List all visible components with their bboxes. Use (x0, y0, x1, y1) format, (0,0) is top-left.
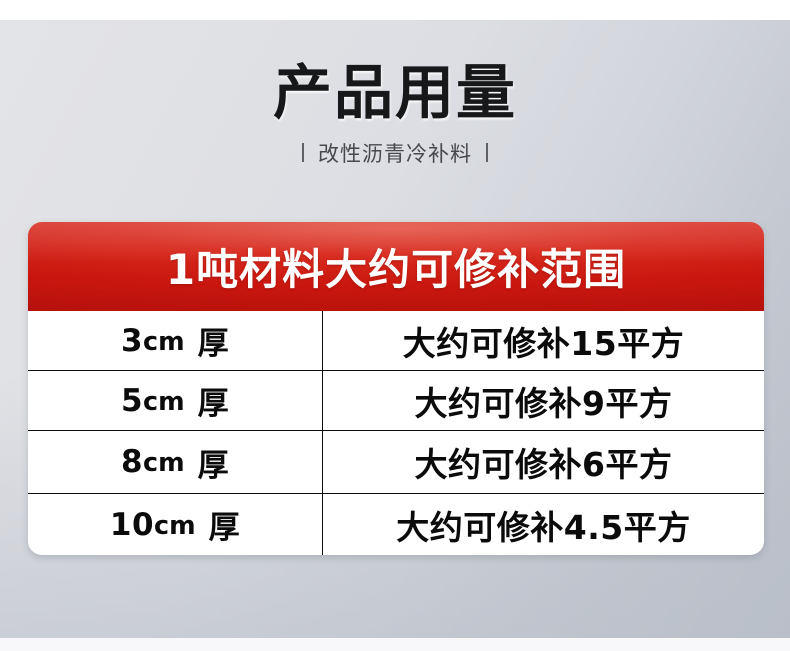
coverage-table-banner: 1吨材料大约可修补范围 (28, 222, 764, 311)
table-row: 8cm厚 大约可修补6平方 (28, 430, 764, 493)
subtitle-row: 改性沥青冷补料 (0, 138, 790, 168)
table-row: 3cm厚 大约可修补15平方 (28, 311, 764, 370)
product-usage-infographic: 产品用量 改性沥青冷补料 1吨材料大约可修补范围 3cm厚 大约可修补15平方 … (0, 0, 790, 651)
thickness-value: 3 (121, 323, 143, 359)
thickness-word: 厚 (198, 440, 230, 485)
thickness-value: 10 (110, 507, 154, 543)
table-cell-thickness: 8cm厚 (28, 431, 323, 493)
coverage-table-body: 3cm厚 大约可修补15平方 5cm厚 大约可修补9平方 8cm厚 大约可修补6… (28, 311, 764, 555)
table-row: 5cm厚 大约可修补9平方 (28, 370, 764, 430)
thickness-word: 厚 (209, 502, 241, 547)
heading-block: 产品用量 改性沥青冷补料 (0, 62, 790, 168)
thickness-value: 8 (121, 444, 143, 480)
thickness-unit: cm (143, 326, 185, 356)
table-cell-thickness: 10cm厚 (28, 494, 323, 555)
thickness-unit: cm (143, 386, 185, 416)
thickness-value: 5 (121, 383, 143, 419)
vertical-bar-right-icon (486, 143, 488, 162)
bottom-white-band (0, 638, 790, 651)
thickness-unit: cm (154, 510, 196, 540)
thickness-unit: cm (143, 447, 185, 477)
vertical-bar-left-icon (302, 143, 304, 162)
thickness-word: 厚 (198, 318, 230, 363)
coverage-table-card: 1吨材料大约可修补范围 3cm厚 大约可修补15平方 5cm厚 大约可修补9平方… (28, 222, 764, 555)
coverage-table-banner-title: 1吨材料大约可修补范围 (166, 236, 626, 297)
page-subtitle: 改性沥青冷补料 (318, 138, 472, 168)
top-white-band (0, 0, 790, 20)
table-cell-coverage: 大约可修补9平方 (323, 371, 764, 430)
page-title: 产品用量 (0, 62, 790, 124)
table-cell-coverage: 大约可修补6平方 (323, 431, 764, 493)
table-row: 10cm厚 大约可修补4.5平方 (28, 493, 764, 555)
table-cell-thickness: 5cm厚 (28, 371, 323, 430)
table-cell-coverage: 大约可修补15平方 (323, 311, 764, 370)
table-cell-thickness: 3cm厚 (28, 311, 323, 370)
table-cell-coverage: 大约可修补4.5平方 (323, 494, 764, 555)
thickness-word: 厚 (198, 378, 230, 423)
